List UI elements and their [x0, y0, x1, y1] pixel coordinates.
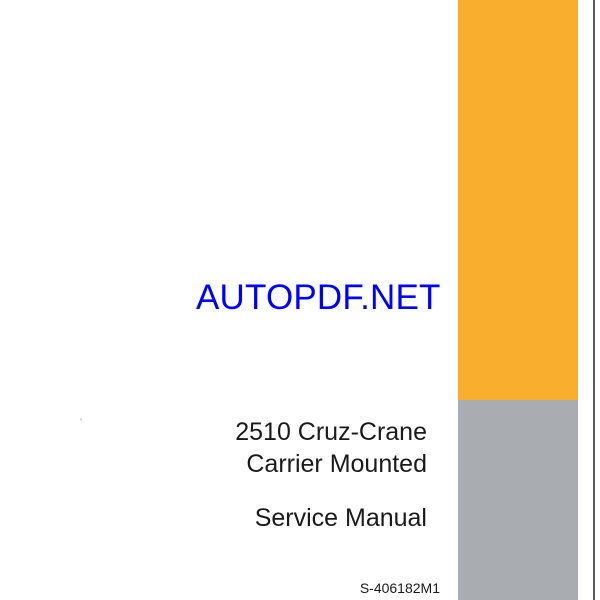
title-line-2: Carrier Mounted [120, 448, 427, 480]
page-edge-shadow [593, 0, 595, 600]
document-page: AUTOPDF.NET 2510 Cruz-Crane Carrier Moun… [0, 0, 600, 600]
scan-artifact-speck [80, 418, 82, 421]
orange-accent-bar [458, 0, 578, 400]
document-subtitle: Service Manual [120, 502, 427, 534]
part-number-label: S-406182M1 [200, 580, 440, 596]
cover-title-block: 2510 Cruz-Crane Carrier Mounted Service … [120, 416, 427, 534]
title-line-1: 2510 Cruz-Crane [120, 416, 427, 448]
watermark-text: AUTOPDF.NET [196, 279, 441, 317]
gray-accent-bar [458, 400, 578, 600]
